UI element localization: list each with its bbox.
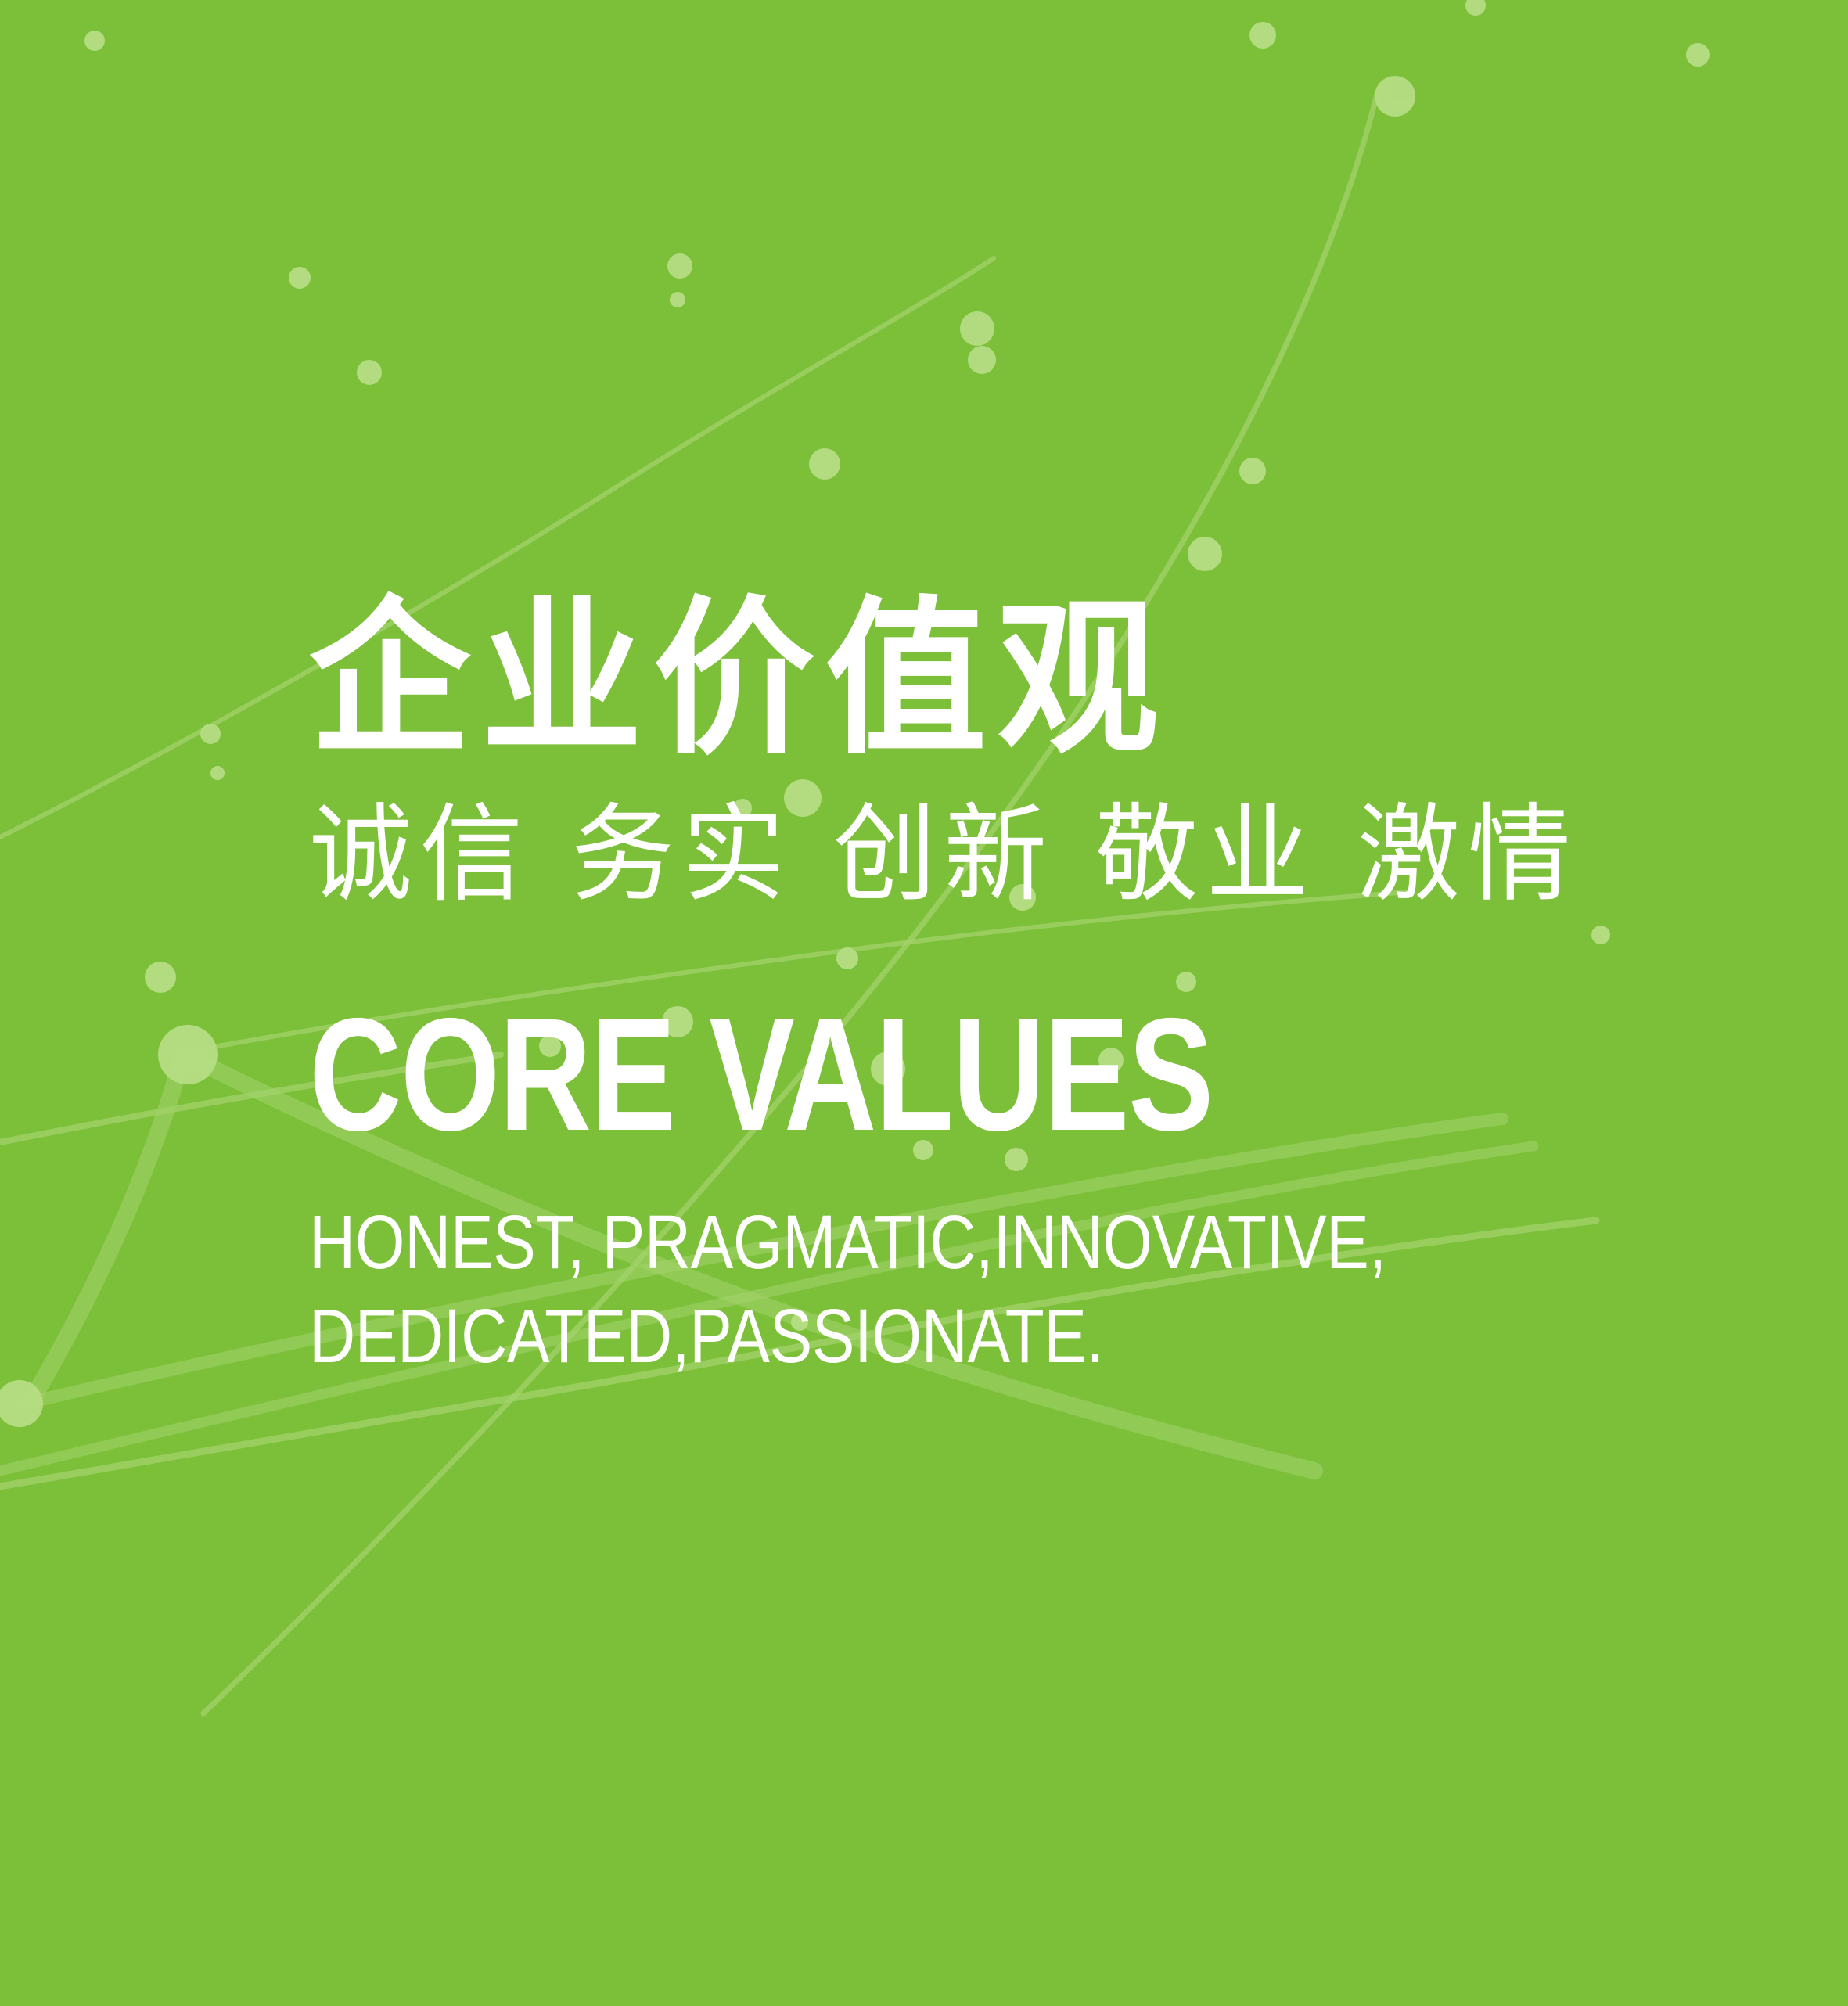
poster-text-block: 企业价值观 诚信 务实 创新 敬业 激情 CORE VALUES HONEST,…	[309, 595, 1796, 1384]
core-values-poster: 企业价值观 诚信 务实 创新 敬业 激情 CORE VALUES HONEST,…	[0, 0, 1848, 2006]
page-subtitle-chinese: 诚信 务实 创新 敬业 激情	[309, 802, 1751, 908]
page-title-english: CORE VALUES	[309, 994, 1498, 1155]
description-line-2: DEDICATED,PASSIONATE.	[309, 1289, 1566, 1383]
description-line-1: HONEST, PRAGMATIC,INNOVATIVE,	[309, 1195, 1566, 1289]
page-description-english: HONEST, PRAGMATIC,INNOVATIVE, DEDICATED,…	[309, 1195, 1566, 1384]
page-title-chinese: 企业价值观	[309, 595, 1736, 763]
